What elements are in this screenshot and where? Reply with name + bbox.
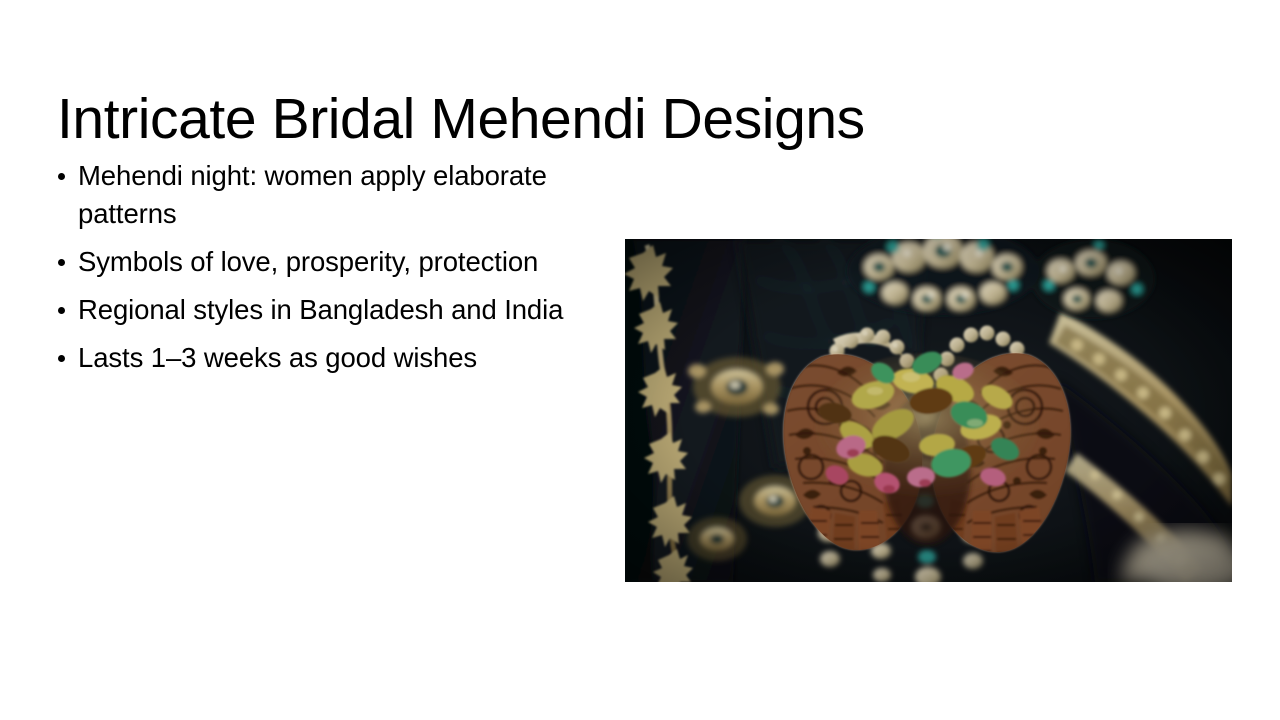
page-title: Intricate Bridal Mehendi Designs	[57, 90, 1057, 150]
list-item: Symbols of love, prosperity, protection	[57, 243, 587, 281]
list-item: Mehendi night: women apply elaborate pat…	[57, 157, 587, 233]
list-item-label: Symbols of love, prosperity, protection	[78, 246, 538, 277]
list-item: Regional styles in Bangladesh and India	[57, 291, 587, 329]
photo-illustration	[625, 239, 1232, 582]
list-item-label: Lasts 1–3 weeks as good wishes	[78, 342, 477, 373]
bullet-dot-icon	[58, 355, 65, 362]
mehendi-hands-photo	[625, 239, 1232, 582]
bullet-dot-icon	[58, 173, 65, 180]
list-item-label: Mehendi night: women apply elaborate pat…	[78, 160, 547, 229]
bullet-dot-icon	[58, 259, 65, 266]
bullet-list: Mehendi night: women apply elaborate pat…	[57, 157, 587, 377]
slide-canvas: Intricate Bridal Mehendi Designs Mehendi…	[0, 0, 1280, 720]
bullet-dot-icon	[58, 307, 65, 314]
list-item: Lasts 1–3 weeks as good wishes	[57, 339, 587, 377]
list-item-label: Regional styles in Bangladesh and India	[78, 294, 563, 325]
